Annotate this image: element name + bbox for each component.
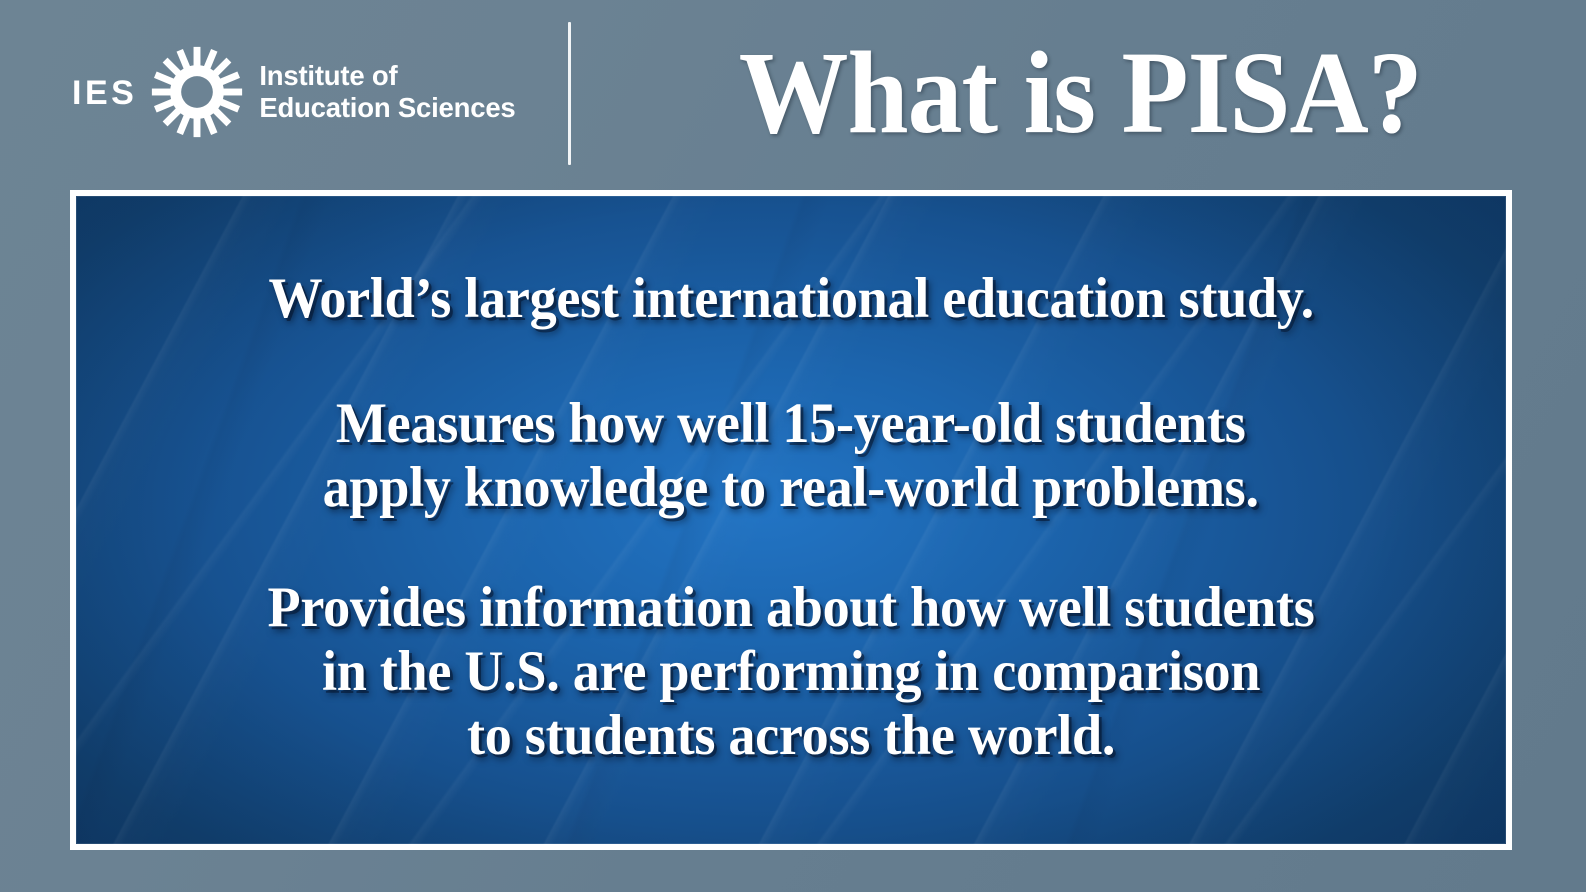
statement-list: World’s largest international education … bbox=[76, 196, 1506, 844]
ies-logo: IES bbox=[72, 44, 516, 140]
sunburst-icon bbox=[149, 44, 245, 140]
vertical-divider-icon bbox=[568, 22, 571, 165]
ies-wordmark-line-1: Institute of bbox=[259, 60, 515, 92]
ies-acronym-text: IES bbox=[72, 76, 137, 110]
statement-item: Measures how well 15-year-old students a… bbox=[323, 392, 1259, 520]
content-panel: World’s largest international education … bbox=[70, 190, 1512, 850]
slide-canvas: IES bbox=[0, 0, 1586, 892]
statement-item: Provides information about how well stud… bbox=[268, 576, 1315, 767]
ies-wordmark-line-2: Education Sciences bbox=[259, 92, 515, 124]
statement-item: World’s largest international education … bbox=[268, 267, 1313, 331]
page-title-text: What is PISA? bbox=[738, 34, 1421, 152]
ies-wordmark: Institute of Education Sciences bbox=[259, 60, 515, 124]
page-title: What is PISA? bbox=[600, 0, 1560, 185]
header-bar: IES bbox=[0, 0, 1586, 185]
